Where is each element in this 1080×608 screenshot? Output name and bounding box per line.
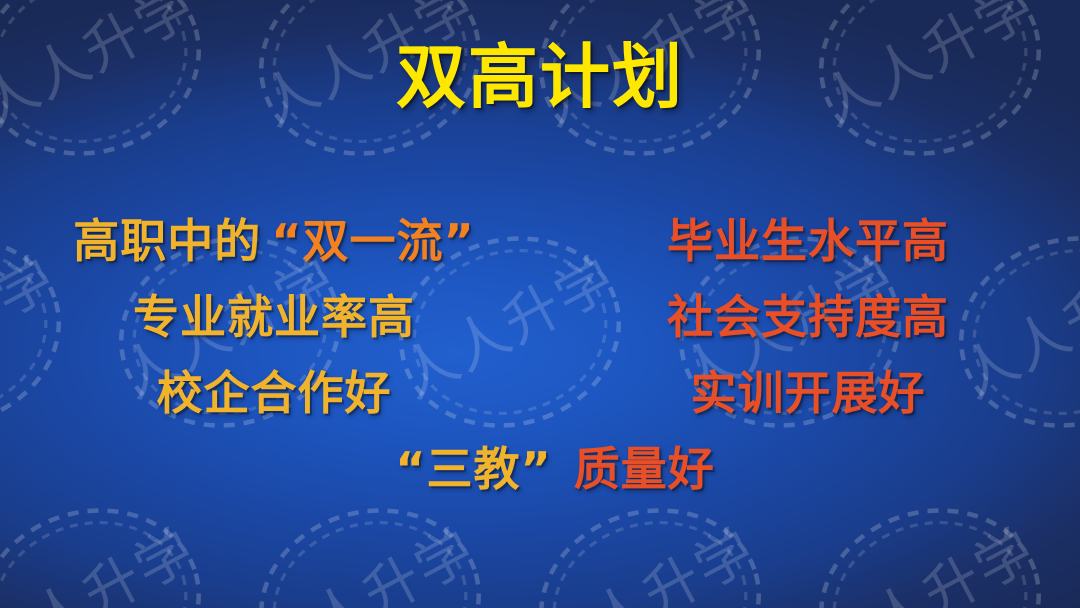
key-point-1-left-part-b: “双一流” (271, 214, 474, 268)
key-point-row-4: “三教”质量好 (0, 446, 1080, 522)
key-point-row-1: 高职中的“双一流” 毕业生水平高 (0, 218, 1080, 294)
key-points-grid: 高职中的“双一流” 毕业生水平高 专业就业率高 社会支持度高 校企合作好 实训开… (0, 218, 1080, 522)
key-point-3-left: 校企合作好 (0, 370, 560, 416)
key-point-2-right: 社会支持度高 (560, 294, 1080, 340)
key-point-1-left: 高职中的“双一流” (0, 218, 560, 264)
key-point-3-right: 实训开展好 (560, 370, 1080, 416)
page-title: 双高计划 (0, 42, 1080, 112)
key-point-1-right: 毕业生水平高 (560, 218, 1080, 264)
key-point-row-3: 校企合作好 实训开展好 (0, 370, 1080, 446)
slide-content: 双高计划 高职中的“双一流” 毕业生水平高 专业就业率高 社会支持度高 校企合作… (0, 0, 1080, 608)
presentation-slide: 人人升学人人升学人人升学人人升学人人升学人人升学人人升学人人升学人人升学人人升学… (0, 0, 1080, 608)
key-point-4-part-b: 质量好 (574, 442, 715, 496)
key-point-2-left: 专业就业率高 (0, 294, 560, 340)
key-point-4-part-a: “三教” (395, 442, 551, 496)
key-point-row-2: 专业就业率高 社会支持度高 (0, 294, 1080, 370)
key-point-1-left-part-a: 高职中的 (73, 214, 261, 268)
key-point-4: “三教”质量好 (0, 446, 1080, 492)
